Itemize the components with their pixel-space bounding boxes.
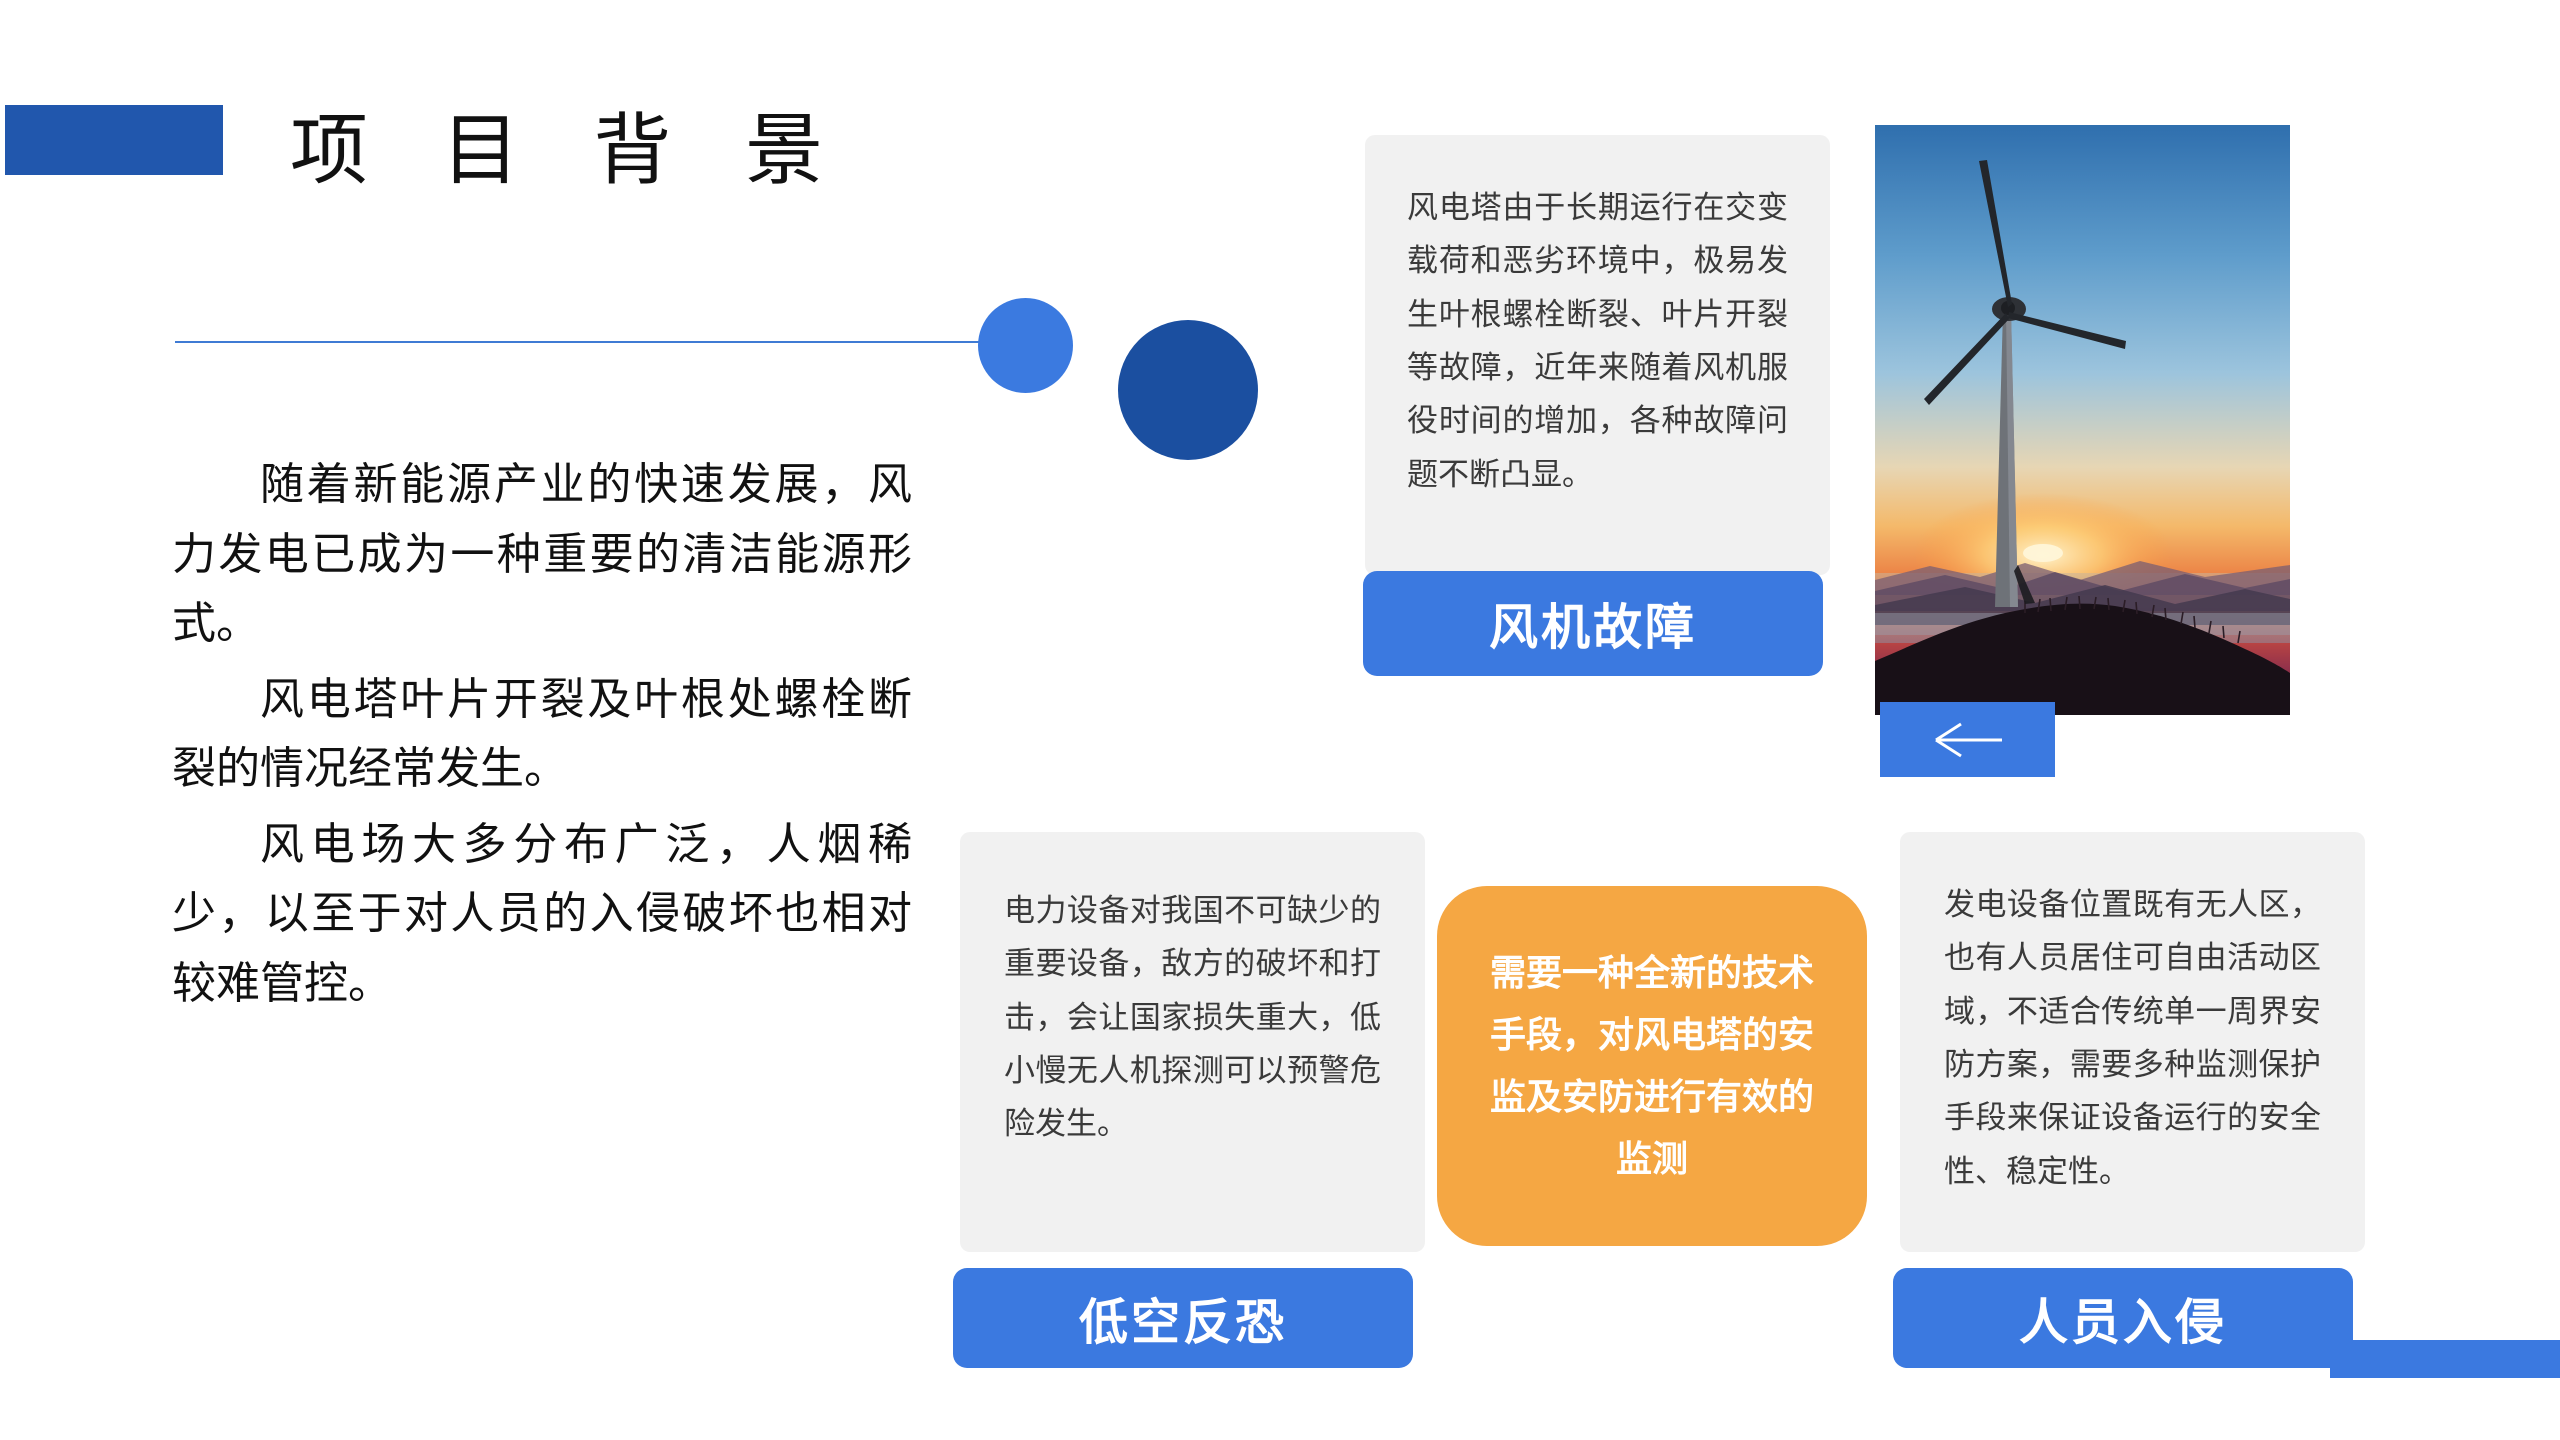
label-personnel-intrusion[interactable]: 人员入侵	[1893, 1268, 2353, 1368]
card-low-altitude-counterterror: 电力设备对我国不可缺少的重要设备，敌方的破坏和打击，会让国家损失重大，低小慢无人…	[960, 832, 1425, 1252]
title-accent-bar	[5, 105, 223, 175]
decorative-circle-large	[1118, 320, 1258, 460]
arrow-left-icon	[1928, 720, 2008, 760]
back-arrow-button[interactable]	[1880, 702, 2055, 777]
slide-root: 项 目 背 景 随着新能源产业的快速发展，风力发电已成为一种重要的清洁能源形式。…	[0, 0, 2560, 1440]
card-center-text: 需要一种全新的技术手段，对风电塔的安监及安防进行有效的监测	[1477, 942, 1827, 1190]
card-intrusion-text: 发电设备位置既有无人区，也有人员居住可自由活动区域，不适合传统单一周界安防方案，…	[1944, 878, 2321, 1198]
decorative-line	[175, 341, 985, 343]
card-fault-text: 风电塔由于长期运行在交变载荷和恶劣环境中，极易发生叶根螺栓断裂、叶片开裂等故障，…	[1407, 181, 1788, 501]
bottom-right-accent-bar	[2330, 1340, 2560, 1378]
body-paragraph-2: 风电塔叶片开裂及叶根处螺栓断裂的情况经常发生。	[172, 665, 912, 804]
page-title: 项 目 背 景	[290, 88, 849, 200]
body-paragraph-3: 风电场大多分布广泛，人烟稀少，以至于对人员的入侵破坏也相对较难管控。	[172, 810, 912, 1019]
body-copy: 随着新能源产业的快速发展，风力发电已成为一种重要的清洁能源形式。 风电塔叶片开裂…	[172, 450, 912, 1024]
card-wind-turbine-fault: 风电塔由于长期运行在交变载荷和恶劣环境中，极易发生叶根螺栓断裂、叶片开裂等故障，…	[1365, 135, 1830, 575]
label-low-altitude-counterterror[interactable]: 低空反恐	[953, 1268, 1413, 1368]
card-personnel-intrusion: 发电设备位置既有无人区，也有人员居住可自由活动区域，不适合传统单一周界安防方案，…	[1900, 832, 2365, 1252]
card-low-altitude-text: 电力设备对我国不可缺少的重要设备，敌方的破坏和打击，会让国家损失重大，低小慢无人…	[1004, 884, 1381, 1151]
decorative-circle-small	[978, 298, 1073, 393]
wind-turbine-photo	[1875, 125, 2290, 715]
card-center-highlight: 需要一种全新的技术手段，对风电塔的安监及安防进行有效的监测	[1437, 886, 1867, 1246]
label-wind-turbine-fault[interactable]: 风机故障	[1363, 571, 1823, 676]
body-paragraph-1: 随着新能源产业的快速发展，风力发电已成为一种重要的清洁能源形式。	[172, 450, 912, 659]
